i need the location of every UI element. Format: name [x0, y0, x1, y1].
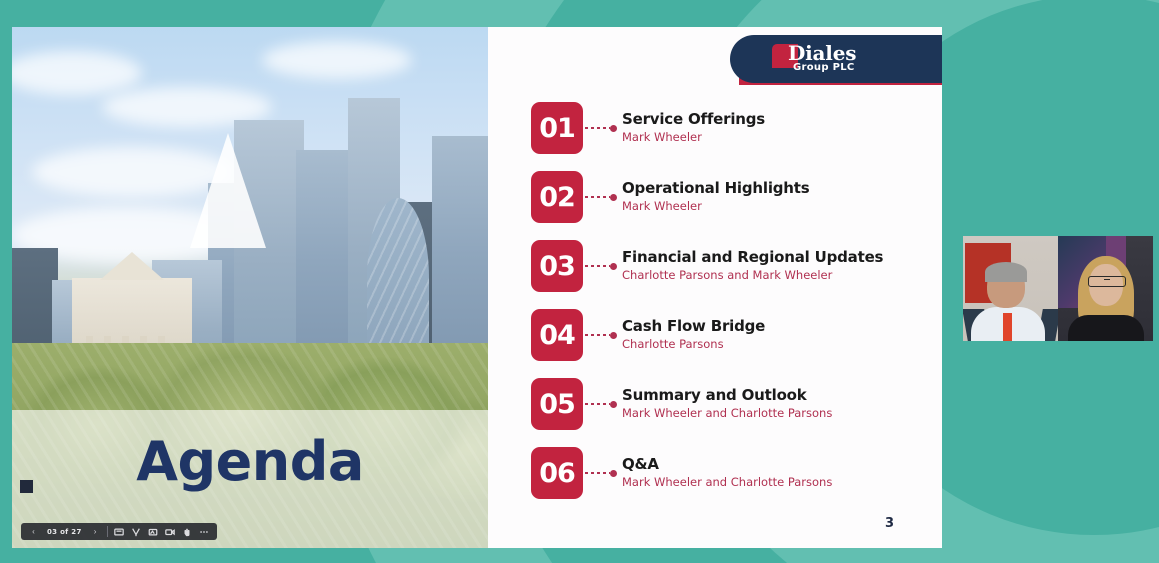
- slide-page-number: 3: [885, 516, 894, 531]
- connector-line: [585, 472, 618, 474]
- next-slide-button[interactable]: ›: [87, 524, 104, 539]
- reactions-button[interactable]: [179, 524, 196, 539]
- agenda-item-number: 04: [531, 309, 583, 361]
- top: [1068, 315, 1144, 341]
- agenda-item-number: 05: [531, 378, 583, 430]
- connector-line: [585, 127, 618, 129]
- connector-line: [585, 403, 618, 405]
- agenda-item-presenter: Mark Wheeler: [622, 130, 765, 145]
- slide-title: Agenda: [12, 430, 488, 493]
- shared-slide[interactable]: Agenda ‹ 03 of 27 ›: [12, 27, 942, 548]
- agenda-item-number: 02: [531, 171, 583, 223]
- agenda-item-presenter: Charlotte Parsons: [622, 337, 765, 352]
- agenda-item-presenter: Mark Wheeler: [622, 199, 809, 214]
- camera-icon: [165, 527, 175, 537]
- agenda-item-title: Cash Flow Bridge: [622, 318, 765, 335]
- annotate-button[interactable]: [128, 524, 145, 539]
- connector-line: [585, 334, 618, 336]
- agenda-item-title: Q&A: [622, 456, 832, 473]
- agenda-list: 01 Service Offerings Mark Wheeler 02 Ope…: [531, 99, 912, 513]
- necktie: [1003, 313, 1012, 341]
- annotate-pen-icon: [131, 527, 141, 537]
- agenda-item-title: Operational Highlights: [622, 180, 809, 197]
- slide-content-panel: Diales Group PLC 01 Service Offerings Ma…: [488, 27, 942, 548]
- slide-bookmark-marker: [20, 480, 33, 493]
- chevron-left-icon: ‹: [32, 528, 35, 536]
- participant-video-right[interactable]: [1058, 236, 1153, 341]
- agenda-item-number: 06: [531, 447, 583, 499]
- agenda-item[interactable]: 02 Operational Highlights Mark Wheeler: [531, 168, 912, 226]
- slide-photo-panel: Agenda ‹ 03 of 27 ›: [12, 27, 488, 548]
- reactions-hand-icon: [182, 527, 192, 537]
- logo-subtitle: Group PLC: [793, 62, 855, 73]
- white-triangle-building: [190, 133, 266, 248]
- slides-view-button[interactable]: [111, 524, 128, 539]
- presenter-toolbar[interactable]: ‹ 03 of 27 ›: [21, 523, 217, 540]
- agenda-item[interactable]: 05 Summary and Outlook Mark Wheeler and …: [531, 375, 912, 433]
- agenda-item-title: Service Offerings: [622, 111, 765, 128]
- hair: [985, 262, 1027, 282]
- agenda-item[interactable]: 01 Service Offerings Mark Wheeler: [531, 99, 912, 157]
- slides-view-icon: [114, 527, 124, 537]
- agenda-item-number: 03: [531, 240, 583, 292]
- agenda-item-presenter: Mark Wheeler and Charlotte Parsons: [622, 475, 832, 490]
- agenda-item-number: 01: [531, 102, 583, 154]
- more-options-button[interactable]: [196, 524, 213, 539]
- connector-line: [585, 196, 618, 198]
- agenda-item[interactable]: 06 Q&A Mark Wheeler and Charlotte Parson…: [531, 444, 912, 502]
- slide-counter: 03 of 27: [42, 528, 87, 536]
- eyeglasses: [1088, 276, 1126, 287]
- toolbar-divider: [107, 526, 108, 537]
- cloud: [12, 51, 142, 95]
- previous-slide-button[interactable]: ‹: [25, 524, 42, 539]
- laser-pointer-button[interactable]: [145, 524, 162, 539]
- agenda-item[interactable]: 04 Cash Flow Bridge Charlotte Parsons: [531, 306, 912, 364]
- agenda-item-title: Summary and Outlook: [622, 387, 832, 404]
- agenda-item[interactable]: 03 Financial and Regional Updates Charlo…: [531, 237, 912, 295]
- video-tiles[interactable]: [963, 236, 1153, 341]
- laser-pointer-icon: [148, 527, 158, 537]
- agenda-item-title: Financial and Regional Updates: [622, 249, 883, 266]
- participant-video-left[interactable]: [963, 236, 1058, 341]
- more-options-icon: [199, 527, 209, 537]
- camera-button[interactable]: [162, 524, 179, 539]
- connector-line: [585, 265, 618, 267]
- diales-logo: Diales Group PLC: [730, 35, 942, 83]
- agenda-item-presenter: Mark Wheeler and Charlotte Parsons: [622, 406, 832, 421]
- agenda-item-presenter: Charlotte Parsons and Mark Wheeler: [622, 268, 883, 283]
- chevron-right-icon: ›: [94, 528, 97, 536]
- cloud: [262, 41, 412, 79]
